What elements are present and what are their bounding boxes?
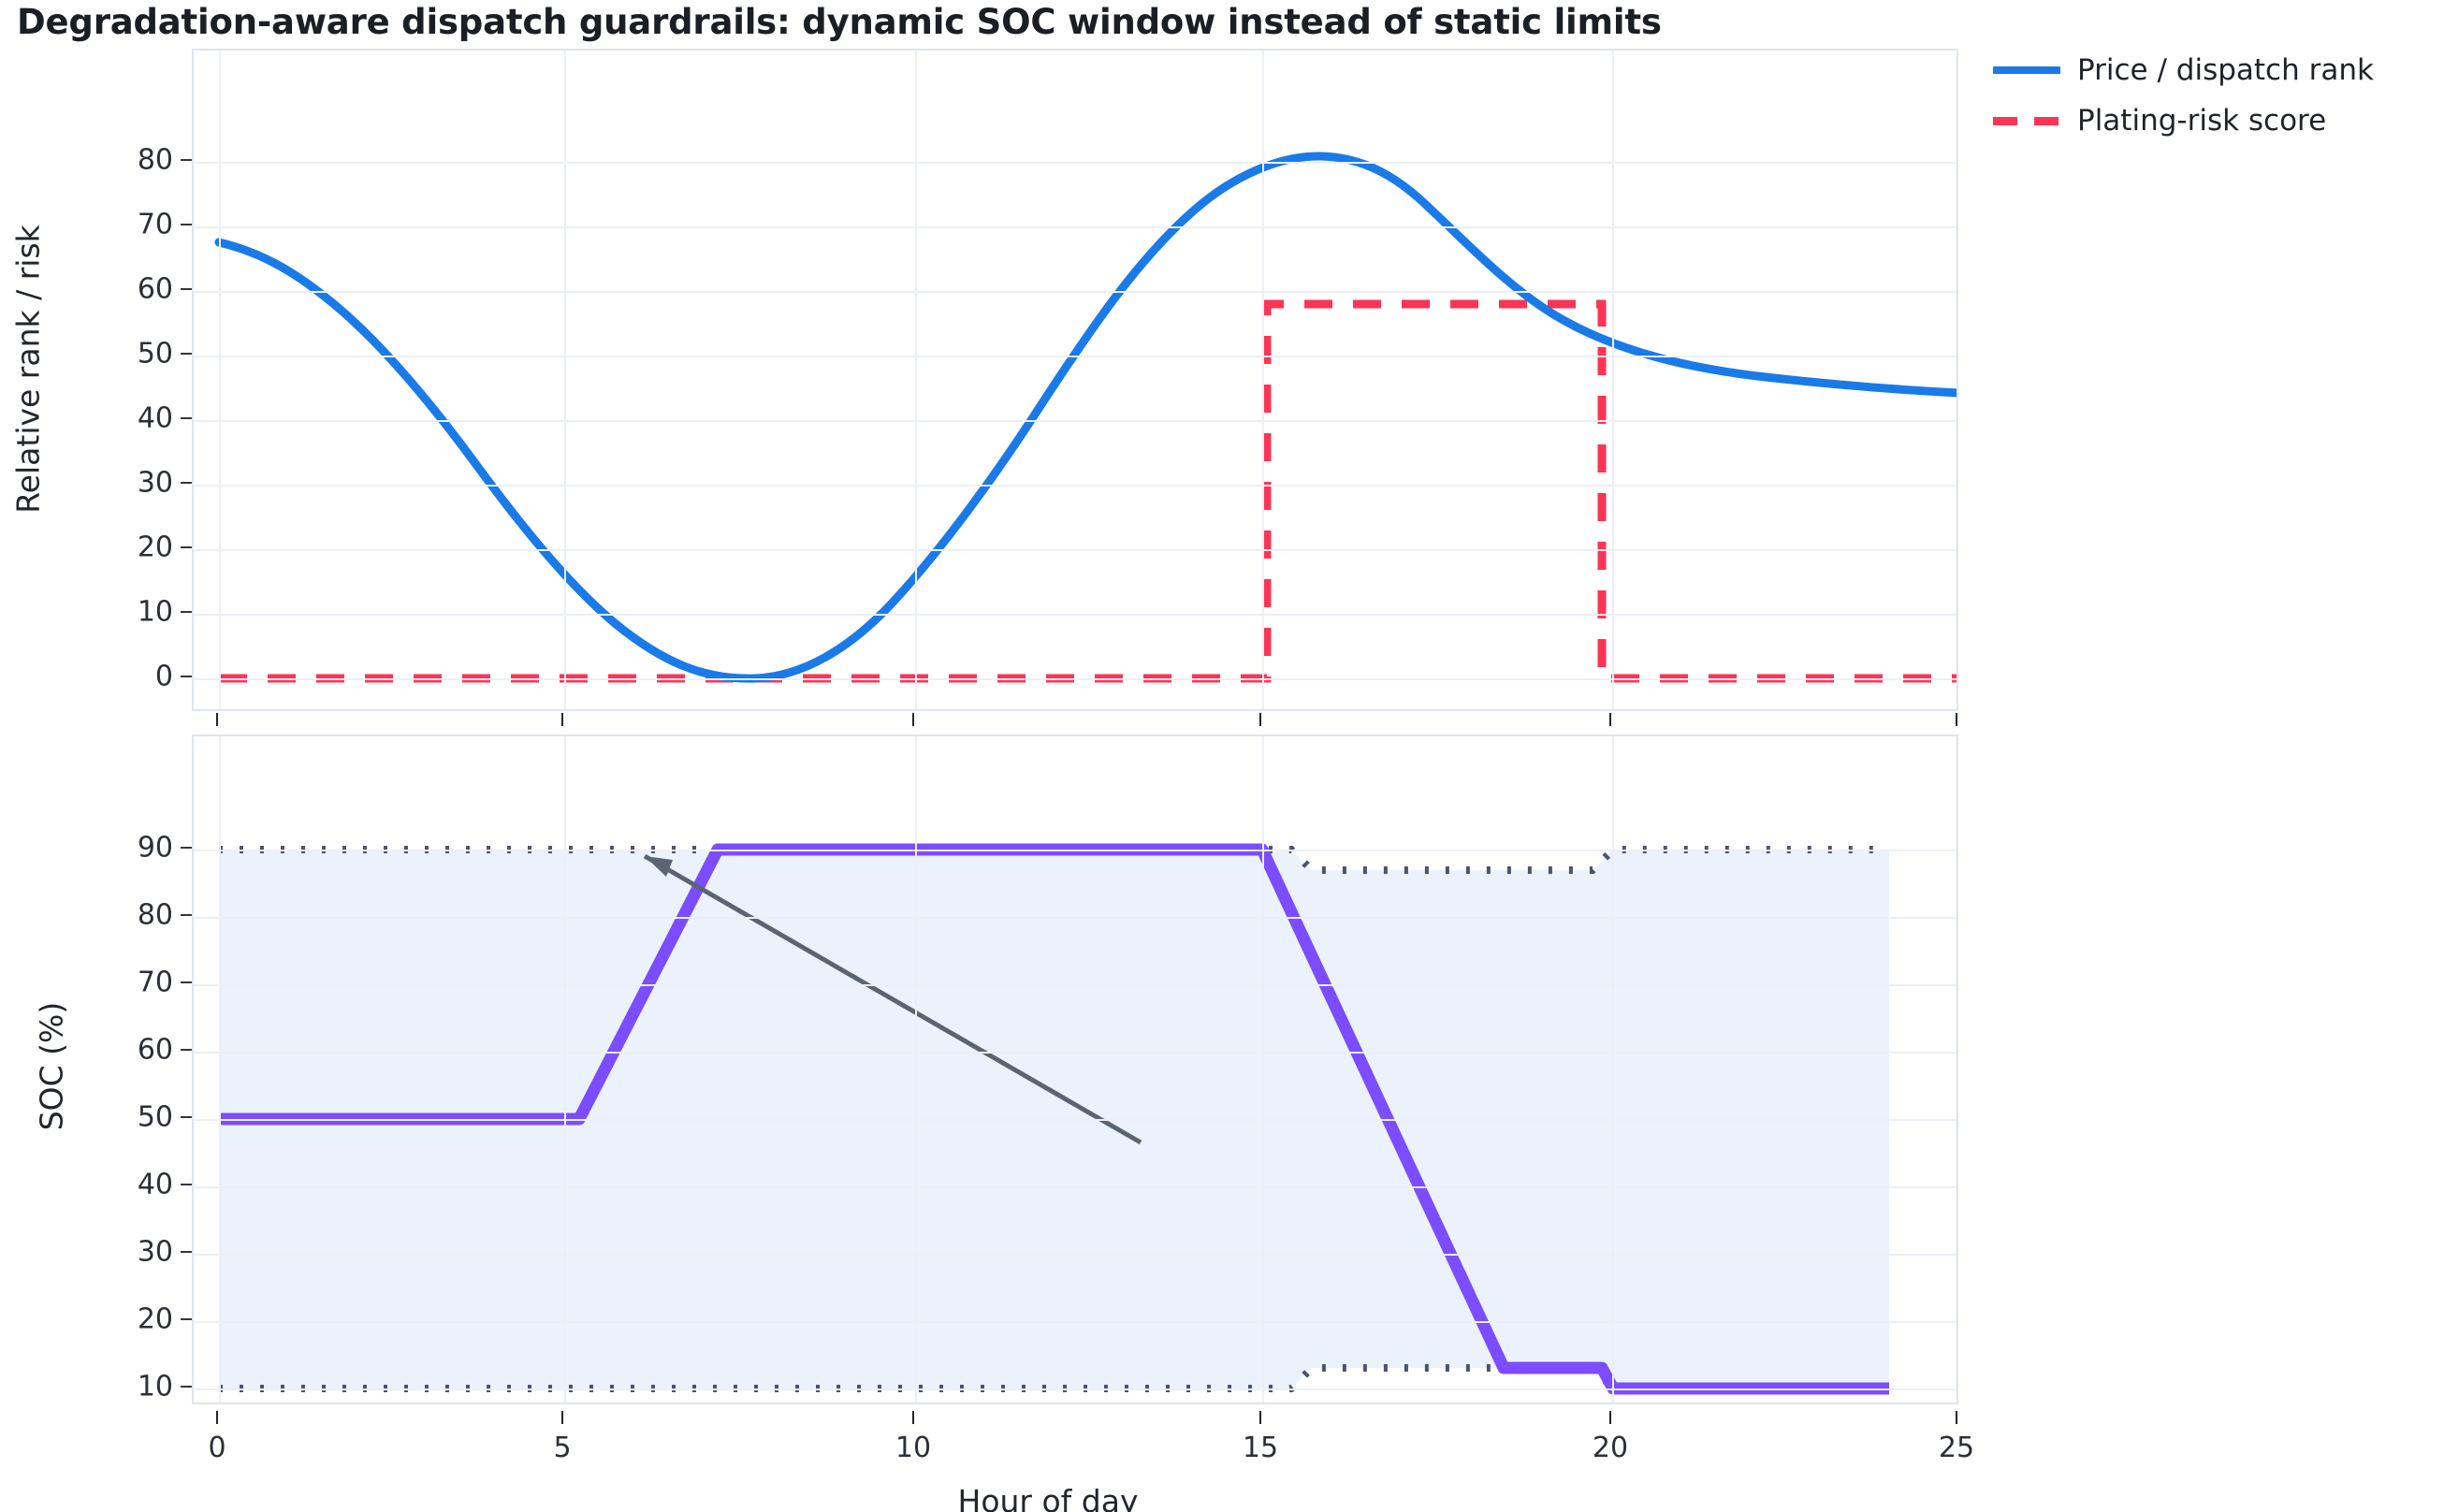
top-gridline-y-0 — [194, 678, 1957, 680]
top-tickmark-x-10 — [912, 713, 914, 726]
top-panel: Relative rank / risk 0 10 20 30 40 50 60… — [0, 0, 2444, 739]
top-gridline-y-30 — [194, 485, 1957, 487]
bottom-xtick-20: 20 — [1593, 1432, 1628, 1464]
top-tickmark-y-60 — [181, 288, 192, 290]
bottom-tickmark-x-25 — [1956, 1411, 1957, 1424]
top-gridline-x-10 — [915, 51, 917, 709]
top-gridline-y-40 — [194, 420, 1957, 422]
bottom-tickmark-x-15 — [1259, 1411, 1261, 1424]
bottom-gridline-y-10 — [194, 1388, 1957, 1390]
bottom-ytick-30: 30 — [0, 1236, 173, 1269]
top-tickmark-y-50 — [181, 353, 192, 355]
bottom-gridline-x-15 — [1262, 736, 1264, 1403]
bottom-tickmark-x-20 — [1609, 1411, 1611, 1424]
top-ytick-20: 20 — [0, 531, 173, 564]
top-ytick-70: 70 — [0, 209, 173, 241]
top-gridline-y-10 — [194, 614, 1957, 616]
top-gridline-y-80 — [194, 162, 1957, 164]
bottom-gridline-x-10 — [915, 736, 917, 1403]
bottom-xtick-0: 0 — [208, 1432, 225, 1464]
bottom-tickmark-y-20 — [181, 1318, 192, 1320]
top-tickmark-y-30 — [181, 482, 192, 484]
top-tickmark-x-25 — [1956, 713, 1957, 726]
bottom-gridline-y-90 — [194, 850, 1957, 851]
top-ytick-40: 40 — [0, 402, 173, 435]
bottom-ytick-50: 50 — [0, 1101, 173, 1134]
top-tickmark-y-20 — [181, 546, 192, 548]
top-tickmark-x-5 — [561, 713, 563, 726]
top-ytick-0: 0 — [0, 661, 173, 693]
bottom-xtick-5: 5 — [553, 1432, 571, 1464]
bottom-xtick-25: 25 — [1939, 1432, 1974, 1464]
top-gridline-x-0 — [219, 51, 221, 709]
bottom-gridline-y-30 — [194, 1254, 1957, 1256]
bottom-ytick-80: 80 — [0, 899, 173, 932]
legend-label-plating-risk-score: Plating-risk score — [2077, 104, 2326, 138]
top-gridline-x-5 — [564, 51, 566, 709]
top-series-svg — [194, 51, 1958, 711]
bottom-xtick-10: 10 — [895, 1432, 931, 1464]
legend-label-price-dispatch-rank: Price / dispatch rank — [2077, 53, 2374, 87]
bottom-gridline-x-0 — [219, 736, 221, 1403]
top-gridline-y-20 — [194, 549, 1957, 551]
top-gridline-y-70 — [194, 226, 1957, 228]
top-ytick-60: 60 — [0, 273, 173, 306]
bottom-tickmark-y-50 — [181, 1116, 192, 1118]
bottom-tickmark-x-10 — [912, 1411, 914, 1424]
bottom-tickmark-y-70 — [181, 981, 192, 983]
bottom-gridline-y-80 — [194, 917, 1957, 919]
top-tickmark-x-15 — [1259, 713, 1261, 726]
top-tickmark-y-80 — [181, 159, 192, 161]
legend-swatch-dashed-line-icon — [1993, 102, 2060, 139]
top-plot-area — [192, 49, 1958, 711]
top-tickmark-y-40 — [181, 417, 192, 419]
bottom-plot-area — [192, 734, 1958, 1404]
bottom-ytick-60: 60 — [0, 1034, 173, 1067]
bottom-gridline-x-20 — [1612, 736, 1614, 1403]
bottom-tickmark-y-80 — [181, 914, 192, 916]
top-tickmark-x-0 — [216, 713, 218, 726]
top-ytick-50: 50 — [0, 338, 173, 371]
bottom-tickmark-y-30 — [181, 1251, 192, 1253]
bottom-ytick-90: 90 — [0, 832, 173, 865]
bottom-ytick-20: 20 — [0, 1303, 173, 1336]
top-tickmark-y-0 — [181, 676, 192, 677]
legend-swatch-line-icon — [1993, 51, 2060, 89]
top-gridline-x-20 — [1612, 51, 1614, 709]
top-ytick-10: 10 — [0, 596, 173, 629]
legend-item-price-dispatch-rank[interactable]: Price / dispatch rank — [1993, 51, 2374, 89]
legend-item-plating-risk-score[interactable]: Plating-risk score — [1993, 102, 2374, 139]
top-tickmark-y-70 — [181, 224, 192, 225]
top-gridline-x-15 — [1262, 51, 1264, 709]
bottom-gridline-y-20 — [194, 1321, 1957, 1323]
bottom-tickmark-x-5 — [561, 1411, 563, 1424]
bottom-tickmark-y-60 — [181, 1049, 192, 1051]
bottom-gridline-y-40 — [194, 1186, 1957, 1188]
bottom-tickmark-y-10 — [181, 1386, 192, 1388]
bottom-gridline-y-50 — [194, 1119, 1957, 1121]
top-gridline-y-60 — [194, 291, 1957, 293]
series-plating-risk-score — [219, 304, 1958, 678]
bottom-ytick-70: 70 — [0, 967, 173, 999]
bottom-gridline-y-60 — [194, 1052, 1957, 1054]
bottom-gridline-y-70 — [194, 984, 1957, 986]
top-legend: Price / dispatch rank Plating-risk score — [1993, 51, 2374, 139]
bottom-series-svg — [194, 736, 1958, 1404]
bottom-xtick-15: 15 — [1243, 1432, 1278, 1464]
series-price-dispatch-rank — [219, 156, 1958, 678]
top-ytick-30: 30 — [0, 467, 173, 500]
top-tickmark-x-20 — [1609, 713, 1611, 726]
top-ytick-80: 80 — [0, 144, 173, 177]
bottom-tickmark-y-90 — [181, 847, 192, 849]
top-gridline-y-50 — [194, 356, 1957, 357]
figure-canvas: Degradation-aware dispatch guardrails: d… — [0, 0, 2444, 1512]
bottom-tickmark-y-40 — [181, 1184, 192, 1185]
bottom-x-axis-label: Hour of day — [958, 1483, 1139, 1512]
bottom-ytick-10: 10 — [0, 1371, 173, 1403]
bottom-ytick-40: 40 — [0, 1169, 173, 1201]
bottom-tickmark-x-0 — [216, 1411, 218, 1424]
top-tickmark-y-10 — [181, 611, 192, 613]
bottom-gridline-x-5 — [564, 736, 566, 1403]
bottom-panel: SOC (%) 10 20 30 40 50 60 70 80 90 — [0, 739, 2444, 1512]
